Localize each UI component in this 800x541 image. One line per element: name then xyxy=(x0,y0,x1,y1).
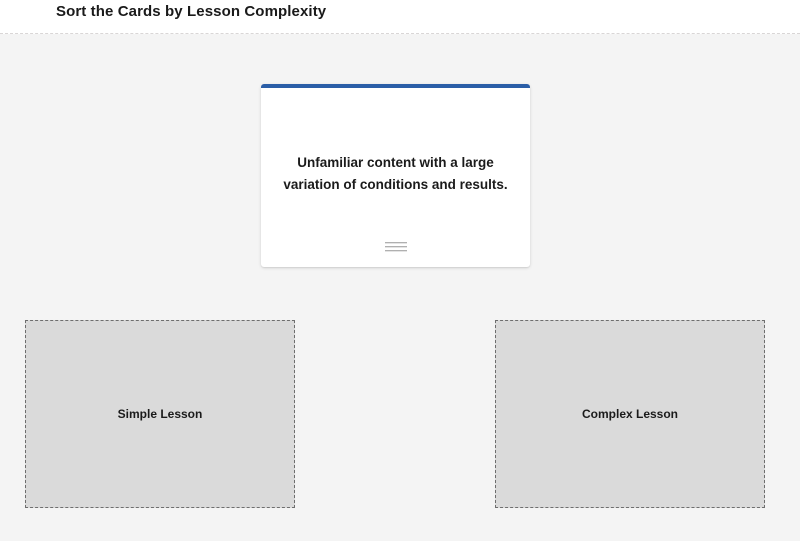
drag-handle-line xyxy=(385,242,407,244)
drag-handle-icon[interactable] xyxy=(385,242,407,253)
sorting-stage: Unfamiliar content with a large variatio… xyxy=(0,34,800,541)
page-title: Sort the Cards by Lesson Complexity xyxy=(56,1,326,23)
drag-handle-line xyxy=(385,246,407,248)
card-area: Unfamiliar content with a large variatio… xyxy=(261,84,530,267)
drag-handle-line xyxy=(385,250,407,252)
draggable-card[interactable]: Unfamiliar content with a large variatio… xyxy=(261,84,530,267)
dropzone-label: Complex Lesson xyxy=(496,321,764,507)
dropzone-label: Simple Lesson xyxy=(26,321,294,507)
dropzone-simple-lesson[interactable]: Simple Lesson xyxy=(25,320,295,508)
card-accent-bar xyxy=(261,84,530,88)
card-text: Unfamiliar content with a large variatio… xyxy=(273,152,518,196)
dropzone-complex-lesson[interactable]: Complex Lesson xyxy=(495,320,765,508)
activity-header: Sort the Cards by Lesson Complexity xyxy=(0,0,800,34)
sorting-activity: Sort the Cards by Lesson Complexity Unfa… xyxy=(0,0,800,541)
